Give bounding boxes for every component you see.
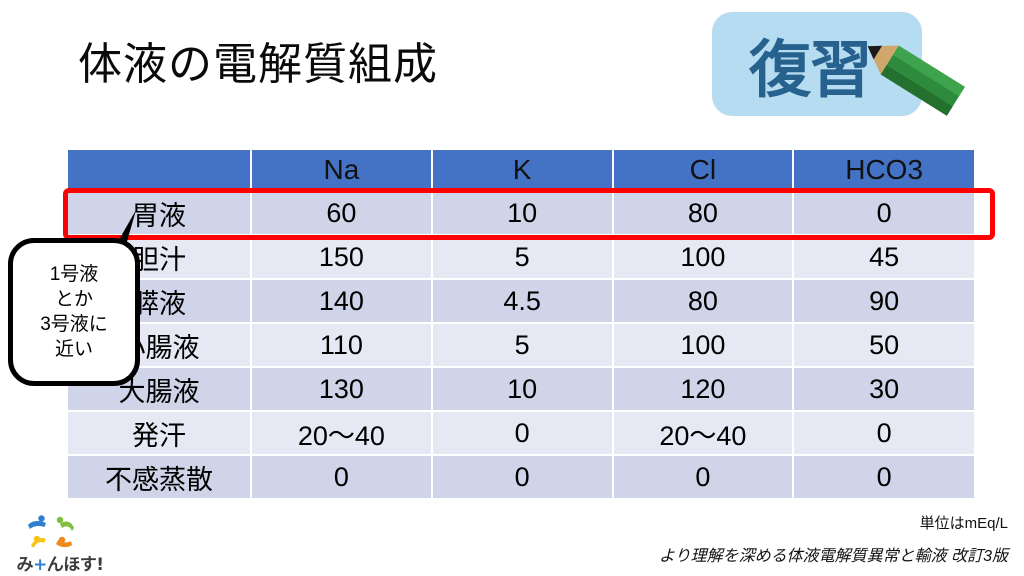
- cell-hco3: 0: [793, 411, 974, 455]
- cell-hco3: 0: [793, 191, 974, 235]
- cell-k: 4.5: [432, 279, 613, 323]
- table-row: 小腸液 110 5 100 50: [68, 323, 974, 367]
- cell-hco3: 50: [793, 323, 974, 367]
- pinwheel-people-icon: [22, 512, 82, 552]
- callout-line: 1号液: [50, 262, 99, 287]
- cell-na: 60: [251, 191, 432, 235]
- cell-k: 5: [432, 323, 613, 367]
- table-row: 不感蒸散 0 0 0 0: [68, 455, 974, 499]
- cell-na: 110: [251, 323, 432, 367]
- column-header-cl: Cl: [613, 150, 794, 191]
- cell-hco3: 90: [793, 279, 974, 323]
- cell-hco3: 45: [793, 235, 974, 279]
- callout-line: 近い: [55, 337, 93, 362]
- column-header-rowlabel: [68, 150, 251, 191]
- cell-k: 10: [432, 191, 613, 235]
- cell-k: 0: [432, 411, 613, 455]
- table-header-row: Na K Cl HCO3: [68, 150, 974, 191]
- column-header-k: K: [432, 150, 613, 191]
- cell-na: 0: [251, 455, 432, 499]
- callout-bubble: 1号液 とか 3号液に 近い: [8, 238, 140, 386]
- review-badge: 復習: [712, 12, 922, 116]
- cell-hco3: 0: [793, 455, 974, 499]
- row-label: 胃液: [68, 191, 251, 235]
- cell-cl: 80: [613, 279, 794, 323]
- table-row: 胃液 60 10 80 0: [68, 191, 974, 235]
- cell-na: 20〜40: [251, 411, 432, 455]
- cell-na: 140: [251, 279, 432, 323]
- brand-wordmark-plus: +: [33, 555, 47, 575]
- table-row: 胆汁 150 5 100 45: [68, 235, 974, 279]
- cell-cl: 120: [613, 367, 794, 411]
- cell-cl: 80: [613, 191, 794, 235]
- cell-cl: 100: [613, 235, 794, 279]
- callout-line: とか: [55, 287, 93, 312]
- callout-line: 3号液に: [40, 312, 108, 337]
- electrolyte-composition-table: Na K Cl HCO3 胃液 60 10 80 0 胆汁 150 5 100 …: [68, 150, 974, 500]
- review-badge-label: 復習: [712, 12, 908, 116]
- cell-na: 130: [251, 367, 432, 411]
- cell-cl: 20〜40: [613, 411, 794, 455]
- row-label: 発汗: [68, 411, 251, 455]
- brand-wordmark-suffix: んほす!: [47, 555, 104, 575]
- row-label: 不感蒸散: [68, 455, 251, 499]
- cell-na: 150: [251, 235, 432, 279]
- page-title: 体液の電解質組成: [78, 40, 438, 91]
- brand-wordmark: み+んほす!: [8, 550, 112, 575]
- column-header-na: Na: [251, 150, 432, 191]
- cell-cl: 100: [613, 323, 794, 367]
- units-note: 単位はmEq/L: [920, 512, 1008, 533]
- table-row: 発汗 20〜40 0 20〜40 0: [68, 411, 974, 455]
- table-row: 大腸液 130 10 120 30: [68, 367, 974, 411]
- cell-hco3: 30: [793, 367, 974, 411]
- brand-wordmark-prefix: み: [16, 555, 33, 575]
- cell-k: 5: [432, 235, 613, 279]
- callout-body: 1号液 とか 3号液に 近い: [8, 238, 140, 386]
- source-citation: より理解を深める体液電解質異常と輸液 改訂3版: [659, 542, 1008, 566]
- table-row: 膵液 140 4.5 80 90: [68, 279, 974, 323]
- column-header-hco3: HCO3: [793, 150, 974, 191]
- cell-k: 10: [432, 367, 613, 411]
- cell-cl: 0: [613, 455, 794, 499]
- cell-k: 0: [432, 455, 613, 499]
- brand-logo: み+んほす!: [8, 512, 112, 572]
